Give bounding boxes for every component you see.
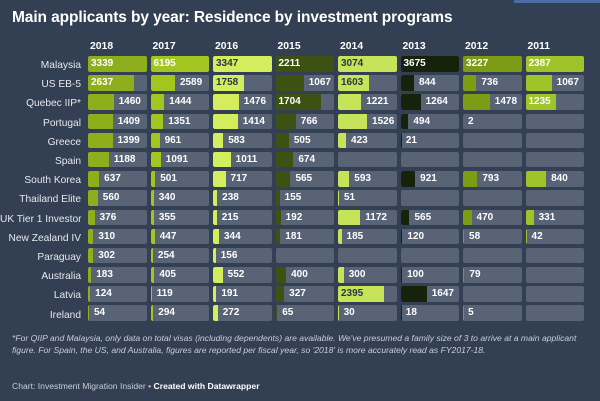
value-cell: 1409 [88, 114, 147, 130]
data-cell: 405 [151, 267, 214, 286]
data-cell [463, 133, 526, 152]
value-label: 844 [416, 75, 436, 91]
value-cell: 1188 [88, 152, 147, 168]
data-cell: 3675 [401, 56, 464, 75]
value-cell: 331 [526, 210, 585, 226]
value-cell: 254 [151, 248, 210, 264]
value-label: 215 [219, 210, 239, 226]
data-cell: 1067 [526, 75, 589, 94]
data-cell [526, 286, 589, 305]
value-label: 119 [154, 286, 173, 302]
row-label: Spain [0, 156, 88, 167]
value-cell: 124 [88, 286, 147, 302]
data-cell: 183 [88, 267, 151, 286]
value-bar [338, 267, 344, 283]
value-cell: 3347 [213, 56, 272, 72]
credit-source: Chart: Investment Migration Insider • [12, 381, 154, 391]
data-cell [526, 190, 589, 209]
data-cell: 1221 [338, 94, 401, 113]
empty-cell [463, 248, 522, 264]
data-cell: 1603 [338, 75, 401, 94]
data-cell: 717 [213, 171, 276, 190]
data-cell [401, 152, 464, 171]
data-cell: 2211 [276, 56, 339, 75]
data-cell [526, 248, 589, 267]
data-cell: 58 [463, 229, 526, 248]
data-cell: 494 [401, 114, 464, 133]
data-cell: 2395 [338, 286, 401, 305]
value-bar [463, 94, 490, 110]
value-label: 327 [286, 286, 306, 302]
data-cell: 124 [88, 286, 151, 305]
row-label: Australia [0, 271, 88, 282]
data-cell: 65 [276, 305, 339, 324]
data-cell: 637 [88, 171, 151, 190]
empty-cell [276, 248, 335, 264]
data-cell: 156 [213, 248, 276, 267]
data-cell: 1091 [151, 152, 214, 171]
value-bar [151, 75, 175, 91]
value-bar [88, 171, 99, 187]
value-cell: 300 [338, 267, 397, 283]
value-bar [276, 190, 280, 206]
value-cell: 120 [401, 229, 460, 245]
value-bar [88, 152, 109, 168]
value-bar [338, 305, 339, 321]
value-cell: 961 [151, 133, 210, 149]
row-label: Quebec IIP* [0, 98, 88, 109]
value-bar [463, 75, 476, 91]
value-bar [88, 210, 95, 226]
value-label: 793 [479, 171, 499, 187]
data-cell: 54 [88, 305, 151, 324]
value-cell: 1460 [88, 94, 147, 110]
table-row: New Zealand IV3104473441811851205842 [0, 229, 600, 248]
data-cell: 1172 [338, 210, 401, 229]
data-cell: 1414 [213, 114, 276, 133]
value-cell: 3227 [463, 56, 522, 72]
value-bar [338, 190, 339, 206]
value-cell: 447 [151, 229, 210, 245]
value-label: 921 [417, 171, 437, 187]
empty-cell [526, 267, 585, 283]
value-cell: 1235 [526, 94, 585, 110]
empty-cell [338, 152, 397, 168]
empty-cell [526, 133, 585, 149]
value-cell: 3074 [338, 56, 397, 72]
data-cell [526, 133, 589, 152]
value-cell: 565 [276, 171, 335, 187]
value-bar [213, 171, 226, 187]
value-cell: 376 [88, 210, 147, 226]
table-row: Australia18340555240030010079 [0, 267, 600, 286]
value-cell: 552 [213, 267, 272, 283]
value-label: 58 [466, 229, 480, 245]
value-bar [401, 75, 414, 91]
value-label: 331 [536, 210, 556, 226]
column-header-2017: 2017 [151, 41, 214, 52]
value-cell: 1647 [401, 286, 460, 302]
table-row: Paraguay302254156 [0, 248, 600, 267]
data-cell: 344 [213, 229, 276, 248]
value-bar [213, 229, 219, 245]
data-cell: 238 [213, 190, 276, 209]
value-cell: 844 [401, 75, 460, 91]
value-label: 183 [93, 267, 113, 283]
value-label: 6195 [151, 56, 176, 72]
value-label: 1478 [492, 94, 517, 110]
value-label: 1351 [165, 114, 190, 130]
column-header-2015: 2015 [276, 41, 339, 52]
data-cell: 921 [401, 171, 464, 190]
data-cell: 18 [401, 305, 464, 324]
empty-cell [401, 248, 460, 264]
value-cell: 1414 [213, 114, 272, 130]
empty-cell [463, 190, 522, 206]
value-label: 1409 [115, 114, 140, 130]
data-cell: 583 [213, 133, 276, 152]
value-cell: 327 [276, 286, 335, 302]
data-cell: 593 [338, 171, 401, 190]
value-cell: 400 [276, 267, 335, 283]
value-label: 1011 [233, 152, 258, 168]
value-bar [213, 190, 217, 206]
data-cell: 1444 [151, 94, 214, 113]
data-cell [338, 248, 401, 267]
data-cell: 1478 [463, 94, 526, 113]
row-label: South Korea [0, 175, 88, 186]
empty-cell [401, 190, 460, 206]
value-cell: 736 [463, 75, 522, 91]
datawrapper-chart: Main applicants by year: Residence by in… [0, 0, 600, 401]
value-cell: 355 [151, 210, 210, 226]
data-cell: 423 [338, 133, 401, 152]
value-bar [88, 248, 93, 264]
value-bar [338, 171, 349, 187]
data-cell [526, 114, 589, 133]
value-label: 344 [221, 229, 241, 245]
value-cell: 65 [276, 305, 335, 321]
column-header-2012: 2012 [463, 41, 526, 52]
value-bar [463, 229, 464, 245]
data-cell: 302 [88, 248, 151, 267]
value-label: 447 [157, 229, 177, 245]
value-label: 300 [346, 267, 366, 283]
value-bar [401, 267, 403, 283]
value-cell: 21 [401, 133, 460, 149]
data-cell: 340 [151, 190, 214, 209]
data-cell: 119 [151, 286, 214, 305]
table-row: UK Tier 1 Investor3763552151921172565470… [0, 210, 600, 229]
value-cell: 310 [88, 229, 147, 245]
value-bar [88, 229, 93, 245]
value-cell: 583 [213, 133, 272, 149]
data-cell [526, 305, 589, 324]
value-cell: 3675 [401, 56, 460, 72]
table-row: Malaysia33396195334722113074367532272387 [0, 56, 600, 75]
data-cell: 254 [151, 248, 214, 267]
data-cell: 1067 [276, 75, 339, 94]
value-cell: 294 [151, 305, 210, 321]
data-cell: 1351 [151, 114, 214, 133]
data-cell: 501 [151, 171, 214, 190]
value-cell: 54 [88, 305, 147, 321]
table-row: US EB-5263725891758106716038447361067 [0, 75, 600, 94]
value-bar [213, 210, 217, 226]
value-label: 120 [404, 229, 424, 245]
data-cell: 192 [276, 210, 339, 229]
value-cell: 1221 [338, 94, 397, 110]
value-cell: 1399 [88, 133, 147, 149]
value-cell: 505 [276, 133, 335, 149]
data-cell: 1188 [88, 152, 151, 171]
data-cell: 2637 [88, 75, 151, 94]
value-bar [526, 210, 534, 226]
value-bar [338, 229, 342, 245]
value-bar [401, 286, 427, 302]
value-label: 3074 [338, 56, 363, 72]
value-label: 840 [548, 171, 568, 187]
value-cell: 1704 [276, 94, 335, 110]
value-label: 376 [97, 210, 117, 226]
value-label: 3347 [213, 56, 238, 72]
row-label: Malaysia [0, 60, 88, 71]
data-cell: 21 [401, 133, 464, 152]
value-bar [151, 171, 156, 187]
data-cell: 5 [463, 305, 526, 324]
value-label: 42 [529, 229, 543, 245]
value-label: 1603 [338, 75, 363, 91]
empty-cell [463, 152, 522, 168]
value-label: 2387 [526, 56, 551, 72]
value-label: 1399 [115, 133, 140, 149]
empty-cell [526, 114, 585, 130]
row-label: Thailand Elite [0, 194, 88, 205]
value-label: 5 [465, 305, 474, 321]
row-label: New Zealand IV [0, 233, 88, 244]
value-cell: 921 [401, 171, 460, 187]
column-header-2013: 2013 [401, 41, 464, 52]
data-cell: 565 [276, 171, 339, 190]
value-label: 191 [218, 286, 238, 302]
value-bar [276, 114, 296, 130]
data-cell: 1704 [276, 94, 339, 113]
value-bar [213, 267, 223, 283]
value-cell: 423 [338, 133, 397, 149]
value-cell: 2637 [88, 75, 147, 91]
value-label: 1526 [369, 114, 394, 130]
data-cell: 3347 [213, 56, 276, 75]
data-cell: 736 [463, 75, 526, 94]
data-cell: 355 [151, 210, 214, 229]
value-cell: 192 [276, 210, 335, 226]
value-bar [151, 152, 161, 168]
data-cell: 840 [526, 171, 589, 190]
value-bar [151, 190, 154, 206]
value-bar [463, 267, 464, 283]
value-cell: 840 [526, 171, 585, 187]
data-cell [401, 190, 464, 209]
value-label: 2589 [177, 75, 202, 91]
data-cell: 3227 [463, 56, 526, 75]
value-bar [526, 75, 552, 91]
value-cell: 5 [463, 305, 522, 321]
data-cell [463, 152, 526, 171]
value-label: 30 [341, 305, 355, 321]
value-bar [151, 305, 154, 321]
data-cell: 272 [213, 305, 276, 324]
value-cell: 494 [401, 114, 460, 130]
table-row: South Korea637501717565593921793840 [0, 171, 600, 190]
value-cell: 2395 [338, 286, 397, 302]
table-row: Spain118810911011674 [0, 152, 600, 171]
data-cell: 560 [88, 190, 151, 209]
value-label: 766 [298, 114, 318, 130]
value-label: 1221 [363, 94, 388, 110]
data-cell: 191 [213, 286, 276, 305]
table-row: Latvia12411919132723951647 [0, 286, 600, 305]
data-cell: 505 [276, 133, 339, 152]
value-cell: 766 [276, 114, 335, 130]
data-cell: 1647 [401, 286, 464, 305]
row-label: Paraguay [0, 252, 88, 263]
value-cell: 191 [213, 286, 272, 302]
value-cell: 3339 [88, 56, 147, 72]
value-bar [151, 114, 164, 130]
credit-tool: Created with Datawrapper [154, 381, 260, 391]
value-bar [151, 133, 160, 149]
row-label: US EB-5 [0, 79, 88, 90]
value-bar [213, 133, 223, 149]
value-cell: 717 [213, 171, 272, 187]
value-cell: 302 [88, 248, 147, 264]
value-cell: 215 [213, 210, 272, 226]
data-cell: 961 [151, 133, 214, 152]
value-label: 181 [282, 229, 302, 245]
value-bar [276, 152, 294, 168]
chart-credit: Chart: Investment Migration Insider • Cr… [12, 381, 260, 391]
value-label: 100 [404, 267, 424, 283]
empty-cell [526, 248, 585, 264]
data-cell: 565 [401, 210, 464, 229]
value-label: 1172 [362, 210, 387, 226]
value-label: 340 [156, 190, 176, 206]
value-cell: 6195 [151, 56, 210, 72]
value-cell: 51 [338, 190, 397, 206]
value-bar [88, 94, 114, 110]
data-cell: 447 [151, 229, 214, 248]
data-cell: 400 [276, 267, 339, 286]
value-bar [276, 171, 291, 187]
value-cell: 183 [88, 267, 147, 283]
value-label: 505 [291, 133, 311, 149]
column-header-2011: 2011 [526, 41, 589, 52]
data-cell: 1526 [338, 114, 401, 133]
value-label: 423 [348, 133, 368, 149]
value-bar [276, 286, 285, 302]
value-label: 51 [341, 190, 355, 206]
value-cell: 2387 [526, 56, 585, 72]
value-bar [88, 114, 113, 130]
chart-title: Main applicants by year: Residence by in… [12, 9, 453, 27]
value-bar [276, 229, 281, 245]
data-cell: 185 [338, 229, 401, 248]
value-cell: 1264 [401, 94, 460, 110]
value-cell: 1351 [151, 114, 210, 130]
value-bar [276, 75, 304, 91]
data-cell: 552 [213, 267, 276, 286]
data-cell: 1264 [401, 94, 464, 113]
table-row: Ireland542942726530185 [0, 305, 600, 324]
data-cell: 294 [151, 305, 214, 324]
value-cell: 155 [276, 190, 335, 206]
value-label: 583 [225, 133, 245, 149]
data-cell: 100 [401, 267, 464, 286]
data-cell: 1011 [213, 152, 276, 171]
data-cell: 51 [338, 190, 401, 209]
footnote: *For QIIP and Malaysia, only data on tot… [12, 333, 590, 356]
value-label: 2637 [88, 75, 113, 91]
value-label: 18 [403, 305, 417, 321]
value-bar [88, 190, 98, 206]
value-label: 1235 [526, 94, 551, 110]
value-label: 501 [157, 171, 177, 187]
value-label: 192 [283, 210, 303, 226]
data-cell: 155 [276, 190, 339, 209]
value-label: 156 [218, 248, 238, 264]
value-bar [276, 267, 287, 283]
value-cell: 565 [401, 210, 460, 226]
value-cell: 501 [151, 171, 210, 187]
value-bar [213, 152, 231, 168]
value-bar [338, 210, 360, 226]
value-label: 3675 [401, 56, 426, 72]
value-cell: 637 [88, 171, 147, 187]
value-cell: 119 [151, 286, 210, 302]
value-bar [151, 210, 154, 226]
data-cell: 30 [338, 305, 401, 324]
column-header-2014: 2014 [338, 41, 401, 52]
data-cell: 2589 [151, 75, 214, 94]
value-label: 2395 [338, 286, 363, 302]
column-header-2016: 2016 [213, 41, 276, 52]
value-bar [213, 248, 216, 264]
empty-cell [526, 152, 585, 168]
value-cell: 1067 [276, 75, 335, 91]
value-cell: 181 [276, 229, 335, 245]
value-label: 961 [162, 133, 182, 149]
value-bar [463, 171, 477, 187]
empty-cell [463, 286, 522, 302]
value-cell: 58 [463, 229, 522, 245]
value-bar [338, 133, 346, 149]
table-row: Greece139996158350542321 [0, 133, 600, 152]
value-label: 238 [219, 190, 239, 206]
value-label: 1704 [276, 94, 301, 110]
data-cell: 2387 [526, 56, 589, 75]
value-label: 3339 [88, 56, 113, 72]
value-label: 21 [403, 133, 417, 149]
data-cell: 1235 [526, 94, 589, 113]
value-label: 1188 [111, 152, 136, 168]
data-cell: 310 [88, 229, 151, 248]
value-bar [151, 248, 153, 264]
value-cell: 2 [463, 114, 522, 130]
value-label: 124 [92, 286, 112, 302]
value-bar [276, 210, 281, 226]
data-cell: 674 [276, 152, 339, 171]
data-cell: 300 [338, 267, 401, 286]
